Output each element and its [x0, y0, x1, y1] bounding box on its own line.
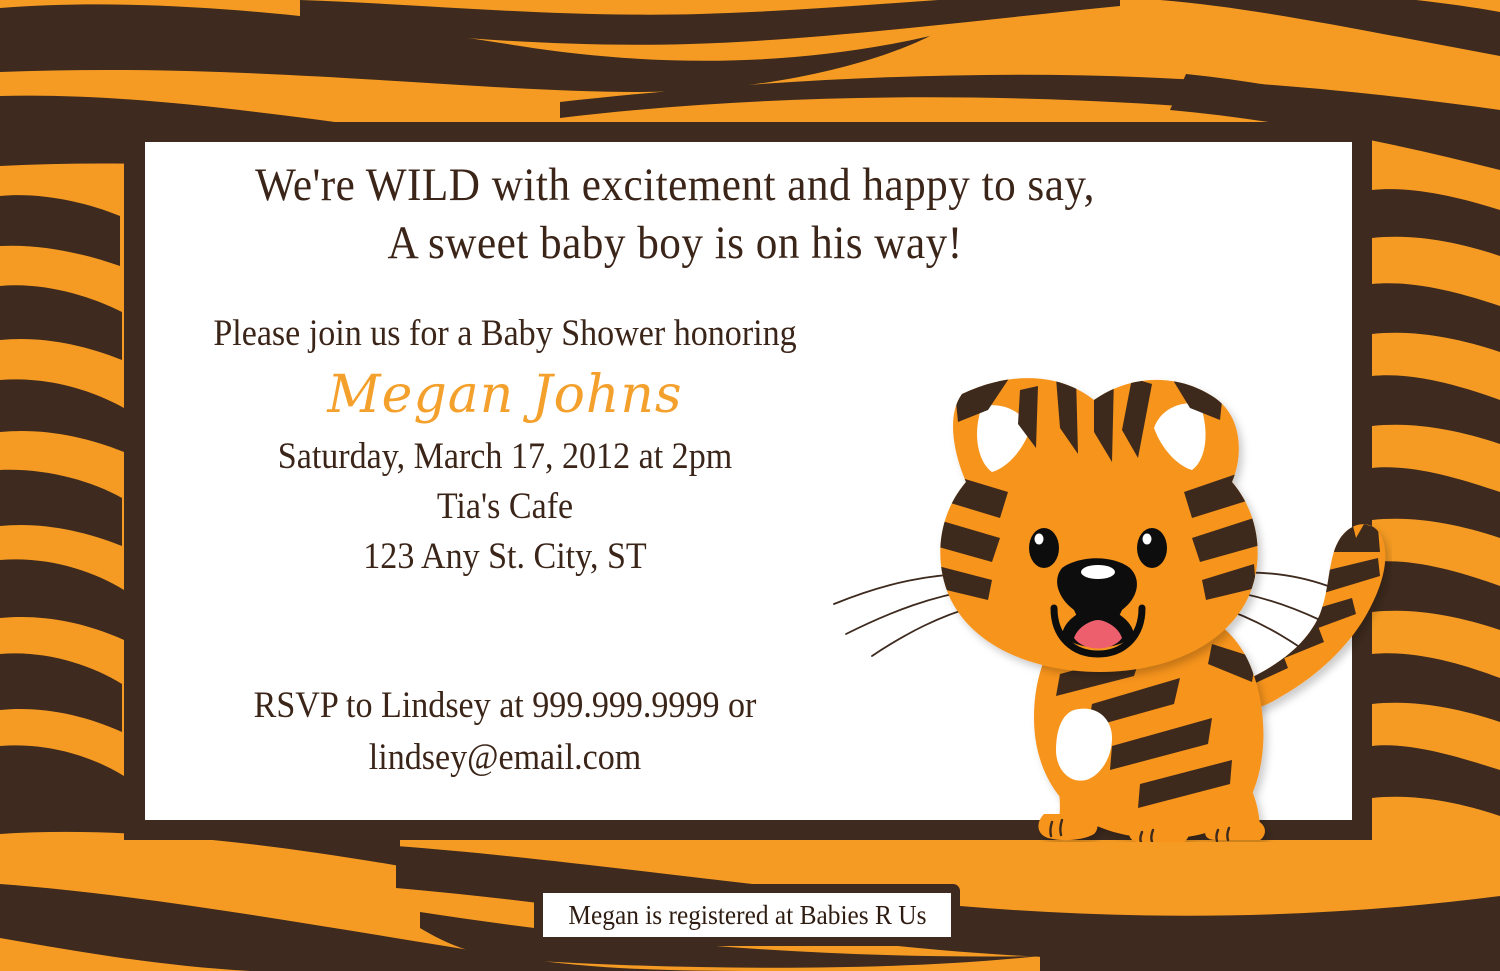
rsvp-details: RSVP to Lindsey at 999.999.9999 or linds… [145, 680, 865, 784]
tiger-eye-right [1137, 528, 1167, 568]
headline: We're WILD with excitement and happy to … [187, 156, 1162, 272]
tiger-eye-left [1029, 528, 1059, 568]
registry-banner: Megan is registered at Babies R Us [534, 884, 960, 946]
registry-banner-text: Megan is registered at Babies R Us [568, 900, 926, 931]
event-date-time: Saturday, March 17, 2012 at 2pm [174, 432, 836, 482]
invitation-card: We're WILD with excitement and happy to … [0, 0, 1500, 971]
headline-line-1: We're WILD with excitement and happy to … [187, 156, 1162, 214]
rsvp-line-2: lindsey@email.com [174, 732, 836, 784]
invite-line: Please join us for a Baby Shower honorin… [174, 312, 836, 356]
event-details: Please join us for a Baby Shower honorin… [145, 312, 865, 582]
honoree-name: Megan Johns [145, 362, 865, 428]
tiger-head [928, 372, 1264, 672]
rsvp-line-1: RSVP to Lindsey at 999.999.9999 or [174, 680, 836, 732]
baby-tiger-illustration [812, 352, 1392, 842]
headline-line-2: A sweet baby boy is on his way! [187, 214, 1162, 272]
event-venue: Tia's Cafe [174, 482, 836, 532]
event-address: 123 Any St. City, ST [174, 532, 836, 582]
